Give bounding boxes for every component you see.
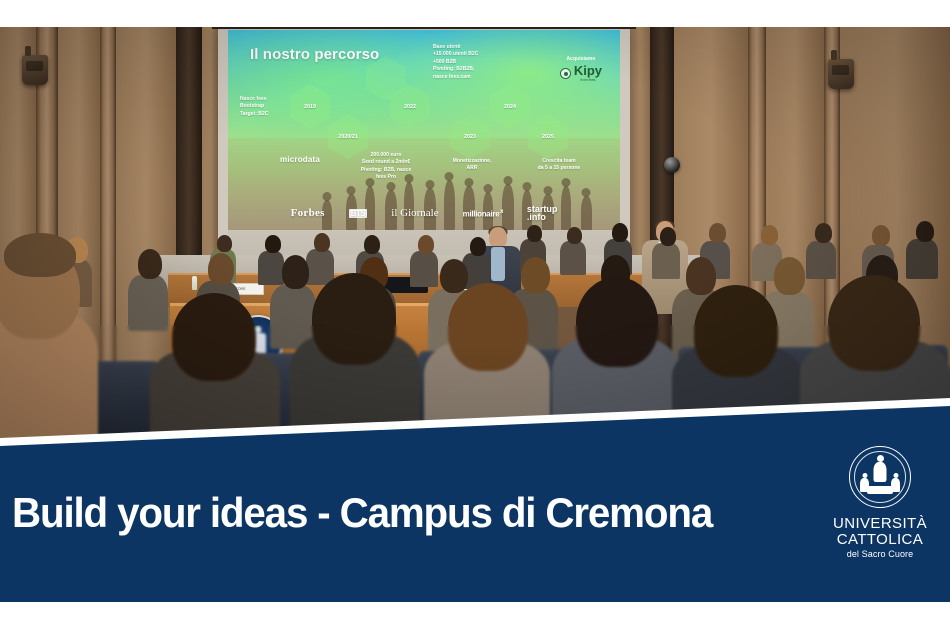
audience-member (306, 249, 334, 285)
poster-root: Il nostro percorso 2019 2020/21 2022 202… (0, 0, 950, 632)
seal-figures (860, 460, 900, 494)
audience-member (660, 227, 676, 246)
audience-member (686, 257, 716, 295)
audience-member (265, 235, 281, 253)
audience-member (470, 237, 486, 256)
audience-member-foreground (694, 285, 778, 377)
audience-member (872, 225, 890, 246)
audience-member (217, 235, 232, 252)
seal-book (867, 486, 893, 494)
audience-member-foreground (172, 293, 256, 381)
logo-line-sacro-cuore: del Sacro Cuore (824, 549, 936, 559)
kipy-brand-name: Kipy (574, 64, 602, 77)
partner-logo-microdata: microdata (280, 154, 320, 166)
audience-member (138, 249, 162, 279)
logo-line-universita: UNIVERSITÀ (824, 516, 936, 532)
presentation-slide: Il nostro percorso 2019 2020/21 2022 202… (228, 30, 620, 230)
timeline-hexagon-label: 2020/21 (338, 134, 358, 140)
security-camera-icon (664, 157, 680, 173)
audience-member (208, 253, 234, 285)
lecture-hall-photo: Il nostro percorso 2019 2020/21 2022 202… (0, 27, 950, 445)
wall-speaker-icon (828, 59, 854, 89)
audience-member (815, 223, 832, 243)
slide-note: Crescita team da 5 a 15 persone (524, 158, 594, 173)
audience-member (440, 259, 468, 293)
audience-member (612, 223, 628, 242)
audience-member (128, 275, 168, 331)
audience-member (906, 239, 938, 279)
slide-note: Base utenti +15 000 utenti B2C +500 B2B … (433, 44, 478, 81)
press-logo-millionaire-sup: .it (499, 209, 503, 215)
slide-note: Monetizzazione, ARR (442, 158, 502, 173)
audience-member (560, 241, 586, 275)
bottom-white-strip (0, 602, 950, 632)
page-title: Build your ideas - Campus di Cremona (12, 492, 712, 534)
audience-member (527, 225, 542, 242)
logo-line-cattolica: CATTOLICA (824, 532, 936, 548)
timeline-hexagon-label: 2019 (304, 104, 316, 110)
audience-member (410, 251, 438, 287)
slide-note: Nasce fees Bootstrap Target: B2C (240, 96, 269, 118)
slide-title: Il nostro percorso (250, 46, 379, 63)
seal-figure-center (874, 462, 887, 482)
slide-note: 200.000 euro Seed round a 2mln€ Pivoting… (350, 152, 422, 182)
acquisition-label: Acquisiamo (560, 56, 602, 62)
audience-member (521, 257, 550, 293)
audience-member (806, 241, 836, 279)
audience-member-foreground (576, 277, 658, 367)
audience-member (314, 233, 330, 252)
audience-member-foreground (312, 273, 396, 365)
acquisition-callout: Acquisiamo Kipy from fees (560, 56, 602, 82)
audience-member (761, 225, 778, 245)
university-logo-lockup: UNIVERSITÀ CATTOLICA del Sacro Cuore (824, 446, 936, 559)
audience-member (652, 243, 680, 279)
audience-member-foreground (448, 283, 528, 371)
timeline-hexagon-label: 2024 (504, 104, 516, 110)
audience-member (418, 235, 434, 254)
timeline-hexagon-label: 2022 (404, 104, 416, 110)
audience-member-foreground (828, 275, 920, 371)
audience-member (709, 223, 726, 243)
timeline-hexagon-label: 2023 (464, 134, 476, 140)
audience-member (916, 221, 934, 242)
audience-member (282, 255, 309, 289)
audience-member-foreground (4, 233, 76, 277)
audience-member (567, 227, 582, 244)
audience-member (774, 257, 805, 295)
university-seal-icon (849, 446, 911, 508)
kipy-logo-icon (560, 68, 571, 79)
audience-member (364, 235, 380, 254)
timeline-hexagon-label: 2025 (542, 134, 554, 140)
audience-member (258, 251, 284, 285)
wall-speaker-icon (22, 55, 48, 85)
kipy-tagline: from fees (574, 78, 602, 82)
